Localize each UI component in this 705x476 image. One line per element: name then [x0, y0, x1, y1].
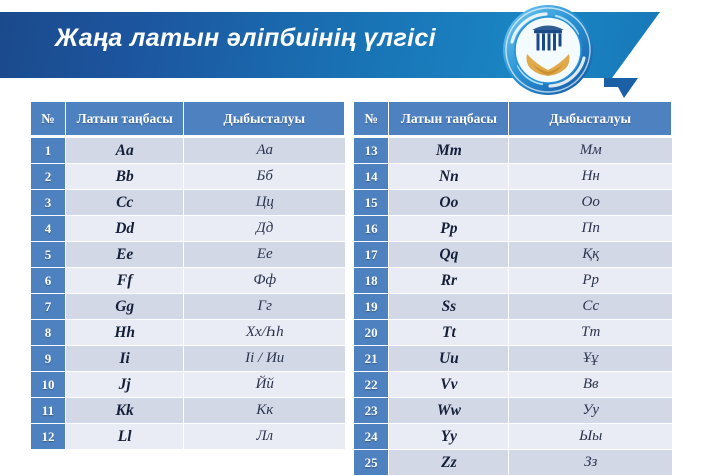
cell-number: 19: [354, 294, 389, 320]
cell-sound-letter: Бб: [184, 164, 345, 190]
cell-latin-letter: Ii: [66, 346, 185, 372]
cell-number: 6: [31, 268, 66, 294]
cell-number: 14: [354, 164, 389, 190]
cell-sound-letter: Іі / Ии: [184, 346, 345, 372]
table-row: 20TtТт: [354, 320, 672, 346]
cell-number: 16: [354, 216, 389, 242]
table-row: 22VvВв: [354, 372, 672, 398]
cell-sound-letter: Вв: [509, 372, 672, 398]
alphabet-table-right: № Латын таңбасы Дыбысталуы 13MmМм14NnНн1…: [354, 102, 672, 476]
table-header-row: № Латын таңбасы Дыбысталуы: [354, 102, 672, 138]
cell-number: 18: [354, 268, 389, 294]
cell-sound-letter: Ққ: [509, 242, 672, 268]
table-body-right: 13MmМм14NnНн15OoОо16PpПп17QqҚқ18RrРр19Ss…: [354, 138, 672, 476]
table-row: 7GgГг: [31, 294, 345, 320]
column-header-number: №: [354, 102, 389, 138]
cell-latin-letter: Zz: [389, 450, 509, 476]
cell-sound-letter: Цц: [184, 190, 345, 216]
table-row: 25ZzЗз: [354, 450, 672, 476]
cell-sound-letter: Пп: [509, 216, 672, 242]
cell-sound-letter: Гг: [184, 294, 345, 320]
alphabet-table-left: № Латын таңбасы Дыбысталуы 1AaАа2BbБб3Cc…: [31, 102, 345, 450]
cell-number: 13: [354, 138, 389, 164]
table-row: 18RrРр: [354, 268, 672, 294]
cell-sound-letter: Хх/Һһ: [184, 320, 345, 346]
table-row: 23WwУу: [354, 398, 672, 424]
cell-number: 2: [31, 164, 66, 190]
table-body-left: 1AaАа2BbБб3CcЦц4DdДд5EeЕе6FfФф7GgГг8HhХх…: [31, 138, 345, 450]
table-row: 24YyЫы: [354, 424, 672, 450]
cell-sound-letter: Тт: [509, 320, 672, 346]
cell-sound-letter: Кк: [184, 398, 345, 424]
cell-number: 21: [354, 346, 389, 372]
column-header-number: №: [31, 102, 66, 138]
column-header-latin: Латын таңбасы: [66, 102, 185, 138]
cell-latin-letter: Uu: [389, 346, 509, 372]
column-header-sound: Дыбысталуы: [509, 102, 672, 138]
cell-latin-letter: Pp: [389, 216, 509, 242]
cell-number: 1: [31, 138, 66, 164]
cell-latin-letter: Ee: [66, 242, 185, 268]
table-row: 16PpПп: [354, 216, 672, 242]
cell-sound-letter: Ее: [184, 242, 345, 268]
column-header-sound: Дыбысталуы: [184, 102, 345, 138]
cell-sound-letter: Ұұ: [509, 346, 672, 372]
cell-number: 8: [31, 320, 66, 346]
cell-latin-letter: Rr: [389, 268, 509, 294]
page-title: Жаңа латын әліпбиінің үлгісі: [55, 24, 436, 53]
cell-latin-letter: Vv: [389, 372, 509, 398]
institute-pillar-wings-emblem: [502, 4, 594, 96]
cell-latin-letter: Ww: [389, 398, 509, 424]
cell-number: 9: [31, 346, 66, 372]
table-row: 8HhХх/Һһ: [31, 320, 345, 346]
cell-sound-letter: Сс: [509, 294, 672, 320]
cell-latin-letter: Hh: [66, 320, 185, 346]
cell-latin-letter: Oo: [389, 190, 509, 216]
cell-sound-letter: Мм: [509, 138, 672, 164]
cell-latin-letter: Aa: [66, 138, 185, 164]
cell-number: 4: [31, 216, 66, 242]
cell-number: 22: [354, 372, 389, 398]
cell-number: 20: [354, 320, 389, 346]
cell-latin-letter: Qq: [389, 242, 509, 268]
cell-sound-letter: Рр: [509, 268, 672, 294]
cell-latin-letter: Nn: [389, 164, 509, 190]
table-row: 2BbБб: [31, 164, 345, 190]
cell-sound-letter: Дд: [184, 216, 345, 242]
cell-latin-letter: Yy: [389, 424, 509, 450]
cell-latin-letter: Kk: [66, 398, 185, 424]
table-row: 12LlЛл: [31, 424, 345, 450]
cell-latin-letter: Ss: [389, 294, 509, 320]
table-row: 9IiІі / Ии: [31, 346, 345, 372]
cell-number: 17: [354, 242, 389, 268]
header-banner: Жаңа латын әліпбиінің үлгісі: [0, 0, 705, 100]
table-row: 4DdДд: [31, 216, 345, 242]
table-row: 3CcЦц: [31, 190, 345, 216]
cell-number: 25: [354, 450, 389, 476]
table-row: 17QqҚқ: [354, 242, 672, 268]
alphabet-tables: № Латын таңбасы Дыбысталуы 1AaАа2BbБб3Cc…: [0, 100, 705, 446]
cell-latin-letter: Bb: [66, 164, 185, 190]
cell-latin-letter: Gg: [66, 294, 185, 320]
table-row: 13MmМм: [354, 138, 672, 164]
cell-sound-letter: Лл: [184, 424, 345, 450]
cell-latin-letter: Jj: [66, 372, 185, 398]
cell-number: 7: [31, 294, 66, 320]
table-row: 11KkКк: [31, 398, 345, 424]
table-row: 10JjЙй: [31, 372, 345, 398]
table-row: 15OoОо: [354, 190, 672, 216]
cell-number: 3: [31, 190, 66, 216]
cell-sound-letter: Аа: [184, 138, 345, 164]
cell-latin-letter: Mm: [389, 138, 509, 164]
table-header-row: № Латын таңбасы Дыбысталуы: [31, 102, 345, 138]
cell-latin-letter: Dd: [66, 216, 185, 242]
cell-latin-letter: Ff: [66, 268, 185, 294]
cell-latin-letter: Tt: [389, 320, 509, 346]
table-row: 19SsСс: [354, 294, 672, 320]
cell-latin-letter: Ll: [66, 424, 185, 450]
cell-number: 5: [31, 242, 66, 268]
cell-sound-letter: Йй: [184, 372, 345, 398]
cell-number: 10: [31, 372, 66, 398]
cell-sound-letter: Ыы: [509, 424, 672, 450]
table-row: 1AaАа: [31, 138, 345, 164]
cell-number: 15: [354, 190, 389, 216]
cell-sound-letter: Нн: [509, 164, 672, 190]
cell-number: 24: [354, 424, 389, 450]
table-row: 5EeЕе: [31, 242, 345, 268]
table-row: 21UuҰұ: [354, 346, 672, 372]
cell-sound-letter: Оо: [509, 190, 672, 216]
cell-sound-letter: Уу: [509, 398, 672, 424]
cell-sound-letter: Зз: [509, 450, 672, 476]
table-row: 6FfФф: [31, 268, 345, 294]
cell-sound-letter: Фф: [184, 268, 345, 294]
cell-latin-letter: Cc: [66, 190, 185, 216]
banner-tail-shape: [604, 78, 638, 98]
column-header-latin: Латын таңбасы: [389, 102, 509, 138]
table-row: 14NnНн: [354, 164, 672, 190]
cell-number: 23: [354, 398, 389, 424]
cell-number: 12: [31, 424, 66, 450]
cell-number: 11: [31, 398, 66, 424]
